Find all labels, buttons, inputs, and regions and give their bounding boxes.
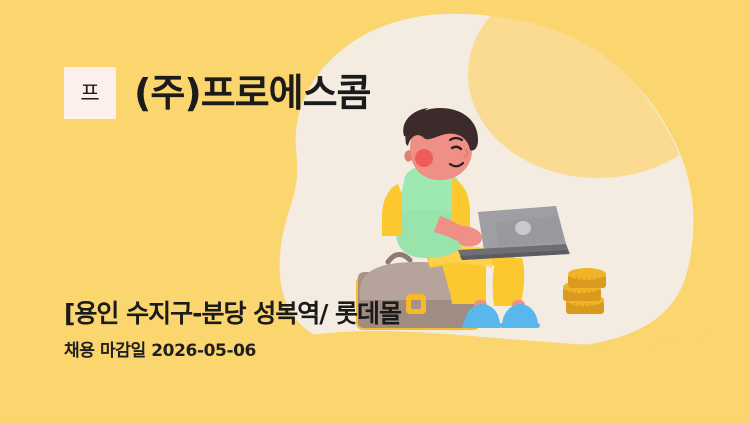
- application-deadline: 채용 마감일 2026-05-06: [64, 342, 256, 362]
- hand: [457, 226, 482, 247]
- company-logo-badge: 프: [64, 67, 116, 119]
- company-header: 프 (주)프로에스콤: [64, 67, 371, 119]
- shoe-right: [502, 304, 538, 326]
- sleeve-left: [382, 184, 402, 236]
- job-posting-card: 프 (주)프로에스콤 [용인 수지구-분당 성복역/ 롯데몰 채용 마감일 20…: [0, 0, 750, 423]
- company-logo-glyph: 프: [80, 83, 99, 104]
- company-name: (주)프로에스콤: [134, 74, 371, 112]
- job-location: [용인 수지구-분당 성복역/ 롯데몰: [64, 300, 401, 329]
- blush: [415, 149, 433, 167]
- coin-stack-icon: [563, 268, 606, 314]
